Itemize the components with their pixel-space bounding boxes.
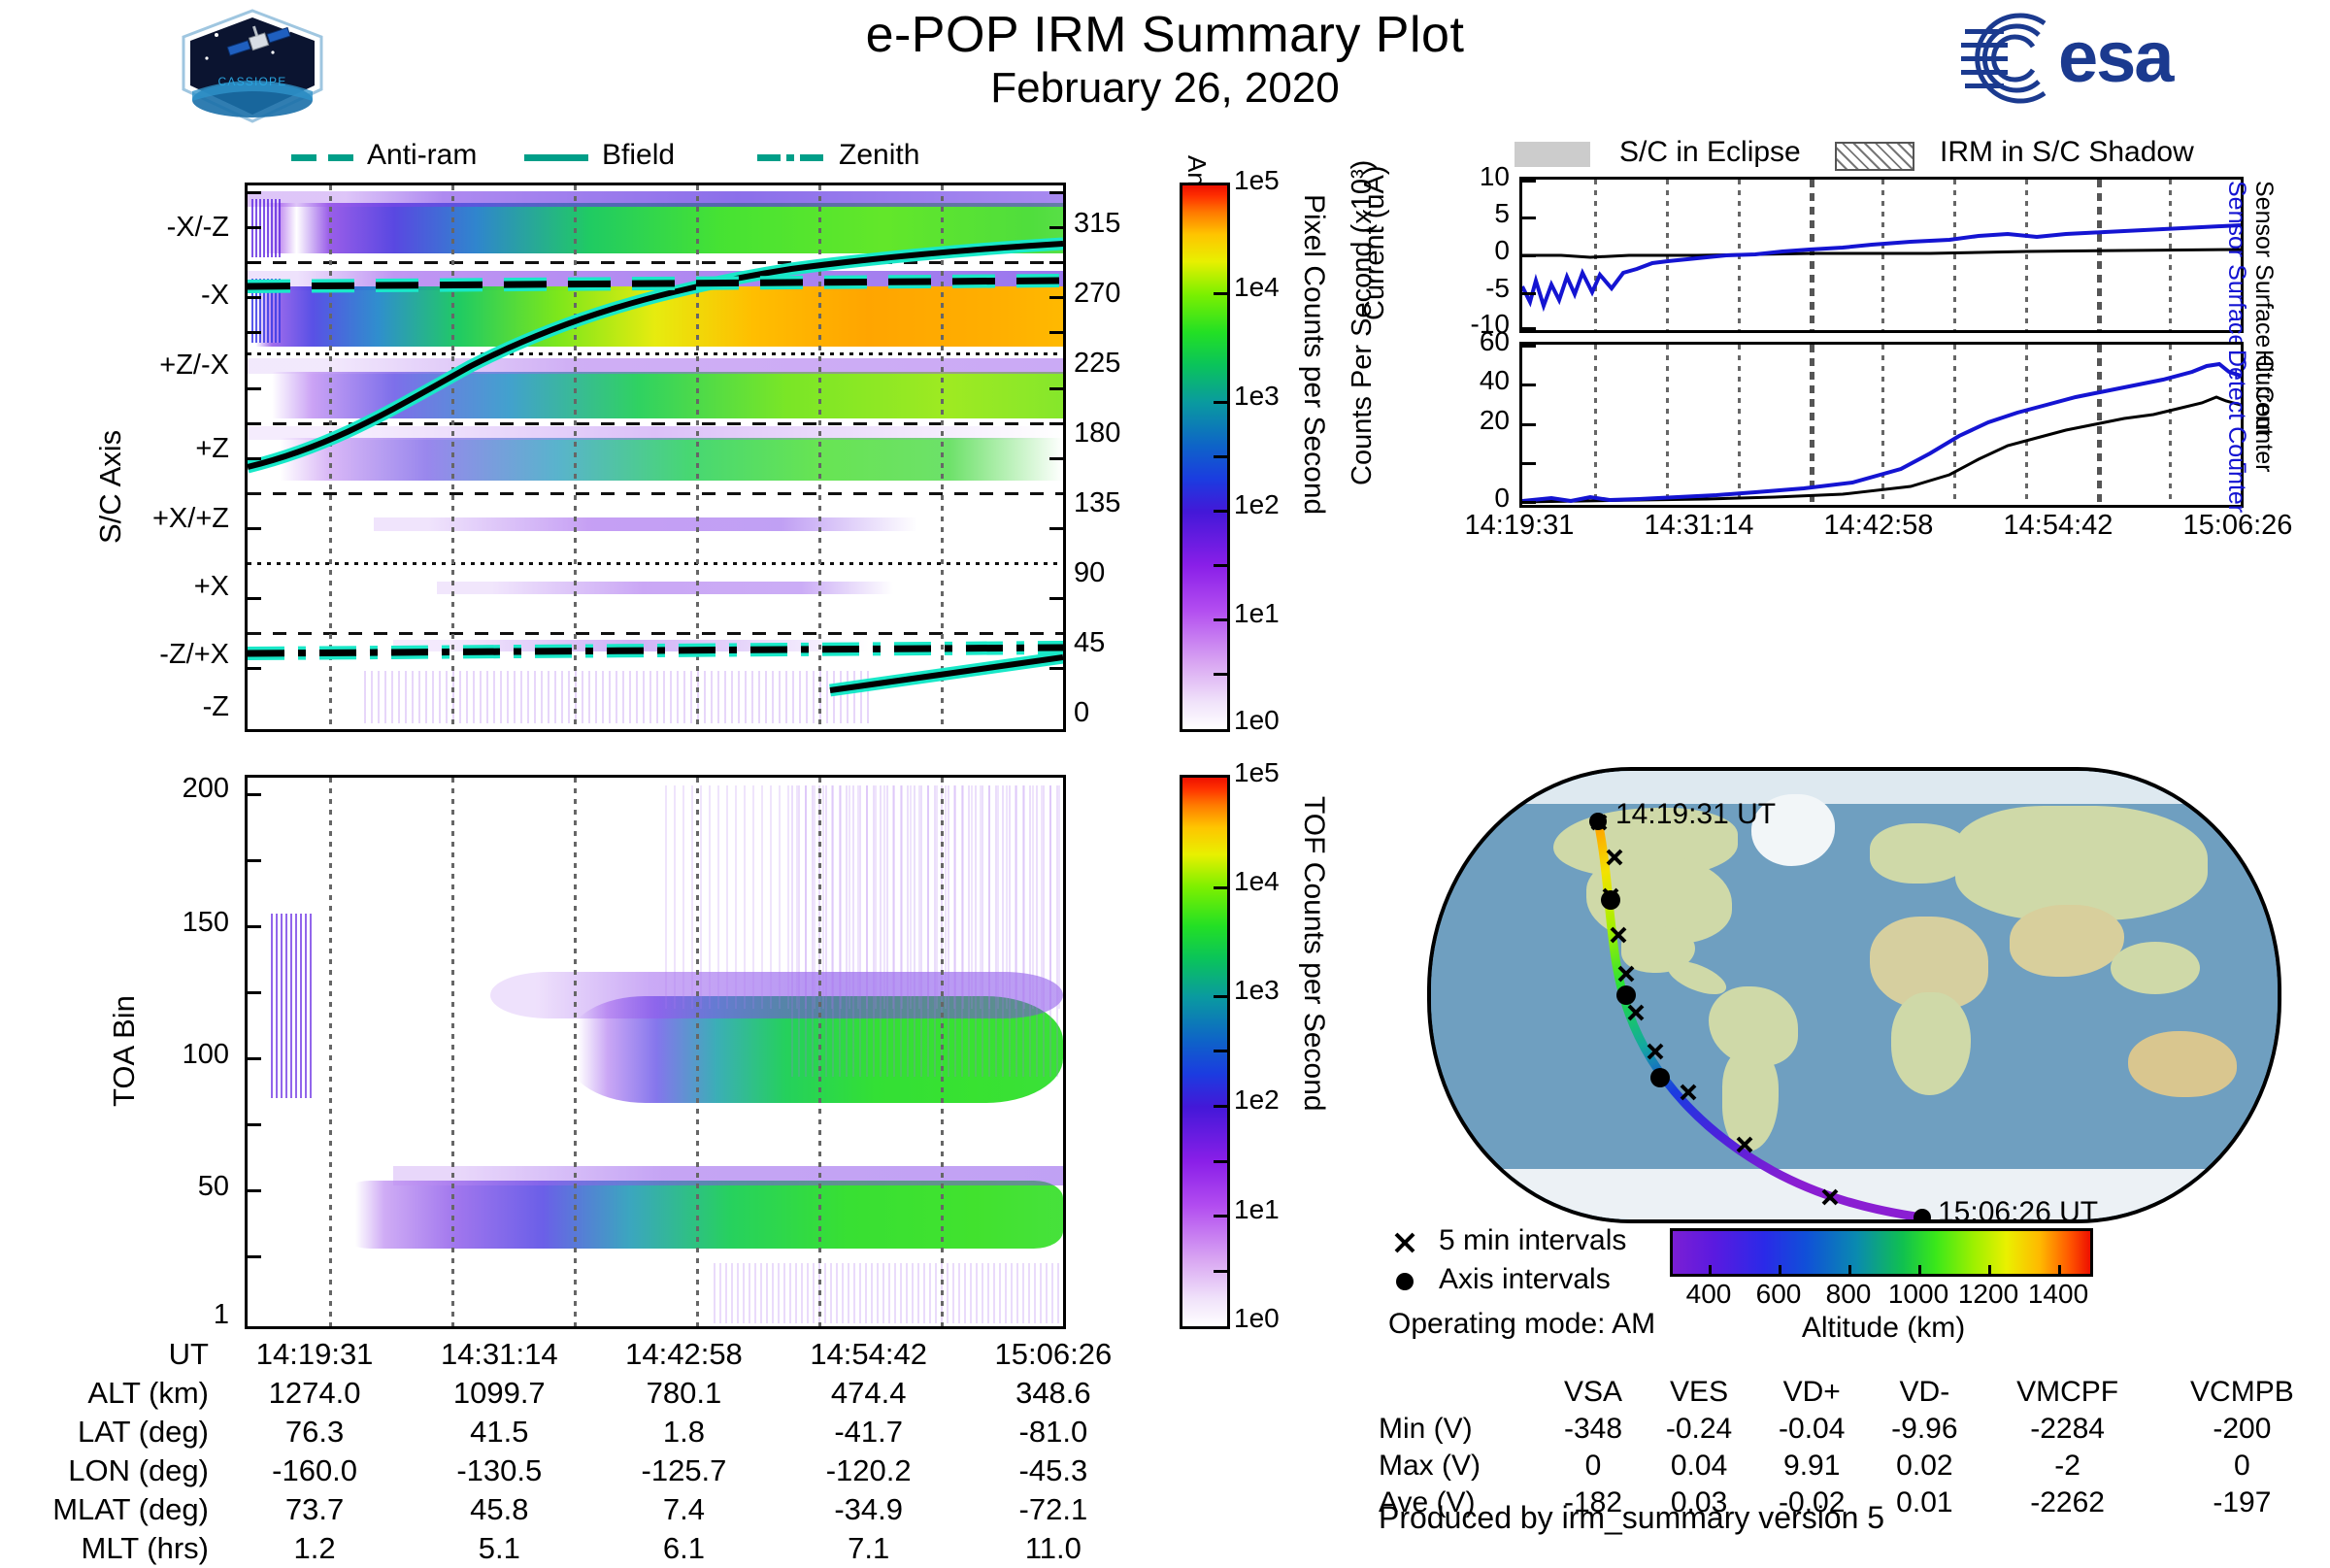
- cell: 0.02: [1868, 1448, 1980, 1485]
- ytick-label-4: +X/+Z: [152, 503, 229, 535]
- current-ytick-labels: 10 5 0 -5 -10: [1379, 177, 1510, 327]
- cell: 45.8: [407, 1490, 591, 1529]
- cell: 474.4: [777, 1374, 961, 1413]
- counts-plot-area: [1522, 345, 2241, 505]
- ytick-label-3: +Z: [195, 433, 229, 465]
- table-row: Max (V) 0 0.04 9.91 0.02 -2 0: [1379, 1448, 2330, 1485]
- cell: 7.4: [591, 1490, 776, 1529]
- cell: 5.1: [407, 1529, 591, 1568]
- ytick-label-2: +Z/-X: [159, 350, 229, 382]
- row-label-min: Min (V): [1379, 1411, 1544, 1448]
- row-label-lon: LON (deg): [0, 1451, 222, 1490]
- spectrogram-panel[interactable]: [245, 183, 1066, 732]
- cell: 0.04: [1643, 1448, 1755, 1485]
- current-series: [1522, 180, 2241, 330]
- cell: -41.7: [777, 1413, 961, 1451]
- ytick-right-5: 90: [1074, 557, 1105, 589]
- counts-series: [1522, 345, 2241, 505]
- cell: -348: [1544, 1411, 1643, 1448]
- row-label-ut: UT: [0, 1335, 222, 1374]
- cell: 0.01: [1868, 1485, 1980, 1521]
- cell: 7.1: [777, 1529, 961, 1568]
- colorbar-tick-1e1: 1e1: [1234, 598, 1280, 629]
- counts-ytick-60: 60: [1480, 326, 1510, 357]
- map-legend-cross-label: 5 min intervals: [1439, 1224, 1626, 1257]
- ytick-right-6: 45: [1074, 627, 1105, 659]
- current-plot-area: [1522, 180, 2241, 330]
- toa-ytick-1: 1: [214, 1299, 229, 1331]
- cell: -2284: [1980, 1411, 2153, 1448]
- table-row: MLT (hrs) 1.2 5.1 6.1 7.1 11.0: [0, 1529, 1146, 1568]
- tof-colorbar-tick-1e3: 1e3: [1234, 975, 1280, 1006]
- counts-ytick-40: 40: [1480, 365, 1510, 396]
- ytick-right-2: 225: [1074, 348, 1120, 380]
- alt-tick-800: 800: [1826, 1279, 1872, 1310]
- ytick-label-7: -Z: [203, 691, 229, 723]
- ytick-right-3: 180: [1074, 417, 1120, 450]
- orbit-track: [1431, 771, 2281, 1223]
- table-row: MLAT (deg) 73.7 45.8 7.4 -34.9 -72.1: [0, 1490, 1146, 1529]
- cell: -81.0: [961, 1413, 1146, 1451]
- produced-by-footer: Produced by irm_summary version 5: [1379, 1500, 1884, 1536]
- alt-tick-400: 400: [1686, 1279, 1732, 1310]
- cell: 6.1: [591, 1529, 776, 1568]
- table-row: UT 14:19:31 14:31:14 14:42:58 14:54:42 1…: [0, 1335, 1146, 1374]
- counts-xtick-4: 15:06:26: [2183, 510, 2293, 542]
- tof-counts-colorbar-gradient: [1180, 775, 1230, 1329]
- pixel-counts-colorbar-gradient: [1180, 183, 1230, 732]
- altitude-colorbar-label: Altitude (km): [1802, 1312, 1965, 1345]
- col-header-ves: VES: [1643, 1374, 1755, 1411]
- shadow-hatch-icon: [1835, 142, 1914, 171]
- alt-tick-600: 600: [1756, 1279, 1802, 1310]
- eclipse-legend-label: S/C in Eclipse: [1619, 136, 1801, 169]
- cell: 14:54:42: [777, 1335, 961, 1374]
- cell: 1099.7: [407, 1374, 591, 1413]
- cell: 0: [2154, 1448, 2330, 1485]
- altitude-colorbar: [1670, 1228, 2093, 1277]
- col-header-vcmpb: VCMPB: [2154, 1374, 2330, 1411]
- cell: -200: [2154, 1411, 2330, 1448]
- toa-ylabel: TOA Bin: [107, 995, 142, 1107]
- dot-marker-icon: [1388, 1265, 1423, 1294]
- tof-colorbar-tick-1e0: 1e0: [1234, 1303, 1280, 1334]
- cross-marker-icon: [1388, 1226, 1423, 1255]
- counts-xtick-3: 14:54:42: [2004, 510, 2114, 542]
- esa-logo: esa: [1951, 10, 2272, 107]
- counts-right-label-black: Hit Counter: [2249, 350, 2278, 472]
- toa-image: [248, 778, 1063, 1326]
- esa-wordmark: esa: [2058, 16, 2172, 98]
- spectrogram-legend: Anti-ram Bfield Zenith: [243, 141, 1019, 174]
- table-header-row: VSA VES VD+ VD- VMCPF VCMPB: [1379, 1374, 2330, 1411]
- table-row: LAT (deg) 76.3 41.5 1.8 -41.7 -81.0: [0, 1413, 1146, 1451]
- tof-counts-colorbar-label: TOF Counts per Second: [1297, 796, 1330, 1112]
- current-ytick-0: 0: [1494, 235, 1510, 266]
- ytick-label-5: +X: [194, 571, 229, 603]
- shadow-legend-label: IRM in S/C Shadow: [1940, 136, 2194, 169]
- alt-tick-1200: 1200: [1958, 1279, 2018, 1310]
- ytick-right-7: 0: [1074, 697, 1089, 729]
- colorbar-tick-1e4: 1e4: [1234, 272, 1280, 303]
- cell: -0.24: [1643, 1411, 1755, 1448]
- zenith-line: [248, 185, 1063, 729]
- cell: 15:06:26: [961, 1335, 1146, 1374]
- eclipse-legend: S/C in Eclipse IRM in S/C Shadow: [1514, 136, 2291, 171]
- current-panel[interactable]: [1519, 177, 2244, 333]
- operating-mode-label: Operating mode: AM: [1388, 1308, 1655, 1341]
- counts-xtick-0: 14:19:31: [1465, 510, 1575, 542]
- current-ytick--5: -5: [1485, 273, 1510, 304]
- cassiope-logo: CASSIOPE: [180, 8, 325, 124]
- cell: 14:42:58: [591, 1335, 776, 1374]
- cell: -2262: [1980, 1485, 2153, 1521]
- spectrogram-right-ytick-labels: 315 270 225 180 135 90 45 0: [1074, 183, 1190, 726]
- row-label-max: Max (V): [1379, 1448, 1544, 1485]
- cell: -120.2: [777, 1451, 961, 1490]
- alt-tick-1000: 1000: [1888, 1279, 1948, 1310]
- current-ytick-10: 10: [1480, 161, 1510, 192]
- cell: -34.9: [777, 1490, 961, 1529]
- toa-ytick-100: 100: [183, 1039, 229, 1071]
- cell: 0: [1544, 1448, 1643, 1485]
- cell: 1.2: [222, 1529, 407, 1568]
- col-header-vsa: VSA: [1544, 1374, 1643, 1411]
- toa-panel[interactable]: [245, 775, 1066, 1329]
- toa-ytick-150: 150: [183, 907, 229, 939]
- row-label-alt: ALT (km): [0, 1374, 222, 1413]
- cell: -130.5: [407, 1451, 591, 1490]
- cell: 780.1: [591, 1374, 776, 1413]
- ephemeris-table: UT 14:19:31 14:31:14 14:42:58 14:54:42 1…: [0, 1335, 1146, 1568]
- ytick-label-1: -X: [201, 280, 229, 312]
- counts-ytick-20: 20: [1480, 405, 1510, 436]
- voltage-corner-cell: [1379, 1374, 1544, 1411]
- cell: -2: [1980, 1448, 2153, 1485]
- cell: -45.3: [961, 1451, 1146, 1490]
- counts-right-label-blue: Detect Counter: [2222, 350, 2250, 513]
- current-ytick-5: 5: [1494, 198, 1510, 229]
- map-globe: 14:19:31 UT 15:06:26 UT: [1427, 767, 2281, 1223]
- cell: 9.91: [1755, 1448, 1868, 1485]
- cell: -125.7: [591, 1451, 776, 1490]
- table-row: Min (V) -348 -0.24 -0.04 -9.96 -2284 -20…: [1379, 1411, 2330, 1448]
- cell: 41.5: [407, 1413, 591, 1451]
- col-header-vdp: VD+: [1755, 1374, 1868, 1411]
- cell: 73.7: [222, 1490, 407, 1529]
- row-label-mlat: MLAT (deg): [0, 1490, 222, 1529]
- legend-label-bfield: Bfield: [602, 139, 675, 172]
- row-label-mlt: MLT (hrs): [0, 1529, 222, 1568]
- alt-tick-1400: 1400: [2028, 1279, 2088, 1310]
- legend-label-zenith: Zenith: [839, 139, 919, 172]
- counts-ytick-labels: 60 40 20 0: [1379, 342, 1510, 502]
- cell: 11.0: [961, 1529, 1146, 1568]
- tof-colorbar-tick-1e4: 1e4: [1234, 866, 1280, 897]
- cell: 348.6: [961, 1374, 1146, 1413]
- cell: 14:31:14: [407, 1335, 591, 1374]
- cell: -72.1: [961, 1490, 1146, 1529]
- tof-counts-colorbar: 1e5 1e4 1e3 1e2 1e1 1e0: [1180, 775, 1403, 1323]
- ytick-right-4: 135: [1074, 487, 1120, 519]
- pixel-counts-colorbar-label: Pixel Counts per Second: [1297, 194, 1330, 515]
- colorbar-tick-1e3: 1e3: [1234, 381, 1280, 412]
- cell: -0.04: [1755, 1411, 1868, 1448]
- map-legend-dot-label: Axis intervals: [1439, 1263, 1611, 1296]
- toa-ytick-200: 200: [183, 773, 229, 805]
- cell: -160.0: [222, 1451, 407, 1490]
- col-header-vdm: VD-: [1868, 1374, 1980, 1411]
- map-start-time-label: 14:19:31 UT: [1615, 798, 1776, 831]
- col-header-vmcpf: VMCPF: [1980, 1374, 2153, 1411]
- counts-xtick-labels: 14:19:31 14:31:14 14:42:58 14:54:42 15:0…: [1519, 510, 2238, 549]
- ground-track-map[interactable]: 14:19:31 UT 15:06:26 UT: [1427, 767, 2281, 1223]
- map-end-time-label: 15:06:26 UT: [1938, 1196, 2098, 1223]
- cell: 1274.0: [222, 1374, 407, 1413]
- ytick-right-0: 315: [1074, 208, 1120, 240]
- cell: -9.96: [1868, 1411, 1980, 1448]
- counts-xtick-1: 14:31:14: [1645, 510, 1754, 542]
- counts-panel[interactable]: [1519, 342, 2244, 508]
- tof-colorbar-tick-1e2: 1e2: [1234, 1084, 1280, 1116]
- colorbar-tick-1e5: 1e5: [1234, 165, 1280, 196]
- row-label-lat: LAT (deg): [0, 1413, 222, 1451]
- cassiope-logo-text: CASSIOPE: [218, 75, 287, 88]
- toa-ytick-50: 50: [198, 1171, 229, 1203]
- cell: 1.8: [591, 1413, 776, 1451]
- cell: 76.3: [222, 1413, 407, 1451]
- cell: 14:19:31: [222, 1335, 407, 1374]
- colorbar-tick-1e0: 1e0: [1234, 705, 1280, 736]
- eclipse-swatch-icon: [1514, 142, 1590, 167]
- counts-xtick-2: 14:42:58: [1824, 510, 1934, 542]
- table-row: ALT (km) 1274.0 1099.7 780.1 474.4 348.6: [0, 1374, 1146, 1413]
- table-row: LON (deg) -160.0 -130.5 -125.7 -120.2 -4…: [0, 1451, 1146, 1490]
- cell: -197: [2154, 1485, 2330, 1521]
- spectrogram-image: [248, 185, 1063, 729]
- colorbar-tick-1e2: 1e2: [1234, 489, 1280, 520]
- counts-ylabel: Counts Per Second (x10³): [1348, 160, 1377, 485]
- legend-label-anti-ram: Anti-ram: [367, 139, 477, 172]
- tof-colorbar-tick-1e5: 1e5: [1234, 757, 1280, 788]
- ytick-label-6: -Z/+X: [159, 639, 229, 671]
- ytick-label-0: -X/-Z: [167, 212, 229, 244]
- tof-colorbar-tick-1e1: 1e1: [1234, 1194, 1280, 1225]
- spectrogram-ylabel: S/C Axis: [93, 430, 128, 544]
- ytick-right-1: 270: [1074, 278, 1120, 310]
